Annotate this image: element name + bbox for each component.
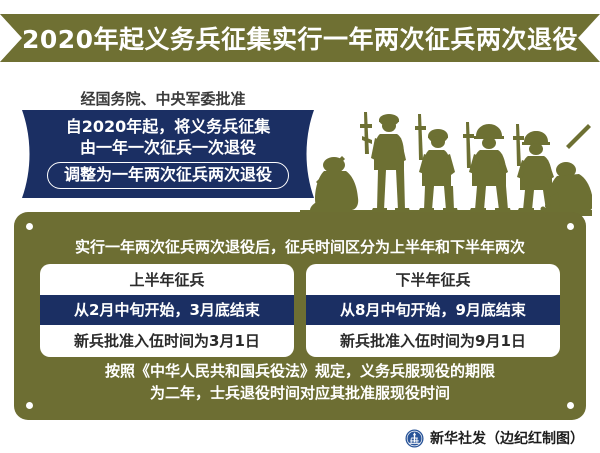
card-enlist-date: 新兵批准入伍时间为3月1日 — [40, 325, 294, 357]
board-footnote: 按照《中华人民共和国兵役法》规定，义务兵服现役的期限 为二年，士兵退役时间对应其… — [40, 360, 560, 404]
soldiers-silhouette — [300, 92, 592, 216]
rivet-bottom-left — [26, 402, 33, 409]
details-board: 实行一年两次征兵两次退役后，征兵时间区分为上半年和下半年两次 上半年征兵 从2月… — [14, 212, 586, 420]
board-footnote-line-2: 为二年，士兵退役时间对应其批准服现役时间 — [40, 382, 560, 404]
xinhua-logo-icon — [405, 429, 424, 448]
credit: 新华社发（边纪红制图） — [405, 428, 584, 448]
policy-line-2: 由一年一次征兵一次退役 — [80, 137, 256, 158]
title-banner: 2020年起义务兵征集实行一年两次征兵两次退役 — [0, 14, 600, 62]
card-enlist-date: 新兵批准入伍时间为9月1日 — [306, 325, 560, 357]
credit-text: 新华社发（边纪红制图） — [430, 428, 584, 448]
rivet-bottom-right — [567, 402, 574, 409]
policy-highlight-pill: 调整为一年两次征兵两次退役 — [47, 162, 289, 189]
infographic-canvas: 2020年起义务兵征集实行一年两次征兵两次退役 经国务院、中央军委批准 自202… — [0, 0, 600, 453]
page-title: 2020年起义务兵征集实行一年两次征兵两次退役 — [0, 14, 600, 62]
soldiers-silhouette-art — [300, 92, 592, 216]
policy-ribbon: 自2020年起，将义务兵征集 由一年一次征兵一次退役 调整为一年两次征兵两次退役 — [22, 110, 314, 198]
rivet-top-left — [26, 223, 33, 230]
card-title: 下半年征兵 — [306, 264, 560, 295]
card-period-band: 从2月中旬开始，3月底结束 — [40, 295, 294, 325]
board-footnote-line-1: 按照《中华人民共和国兵役法》规定，义务兵服现役的期限 — [40, 360, 560, 382]
approval-text: 经国务院、中央军委批准 — [18, 88, 308, 109]
card-title: 上半年征兵 — [40, 264, 294, 295]
conscription-cards: 上半年征兵 从2月中旬开始，3月底结束 新兵批准入伍时间为3月1日 下半年征兵 … — [40, 264, 560, 357]
policy-line-1: 自2020年起，将义务兵征集 — [66, 116, 271, 137]
board-headline: 实行一年两次征兵两次退役后，征兵时间区分为上半年和下半年两次 — [14, 236, 586, 257]
rivet-top-right — [567, 223, 574, 230]
card-period-band: 从8月中旬开始，9月底结束 — [306, 295, 560, 325]
card-second-half-year: 下半年征兵 从8月中旬开始，9月底结束 新兵批准入伍时间为9月1日 — [306, 264, 560, 357]
card-first-half-year: 上半年征兵 从2月中旬开始，3月底结束 新兵批准入伍时间为3月1日 — [40, 264, 294, 357]
